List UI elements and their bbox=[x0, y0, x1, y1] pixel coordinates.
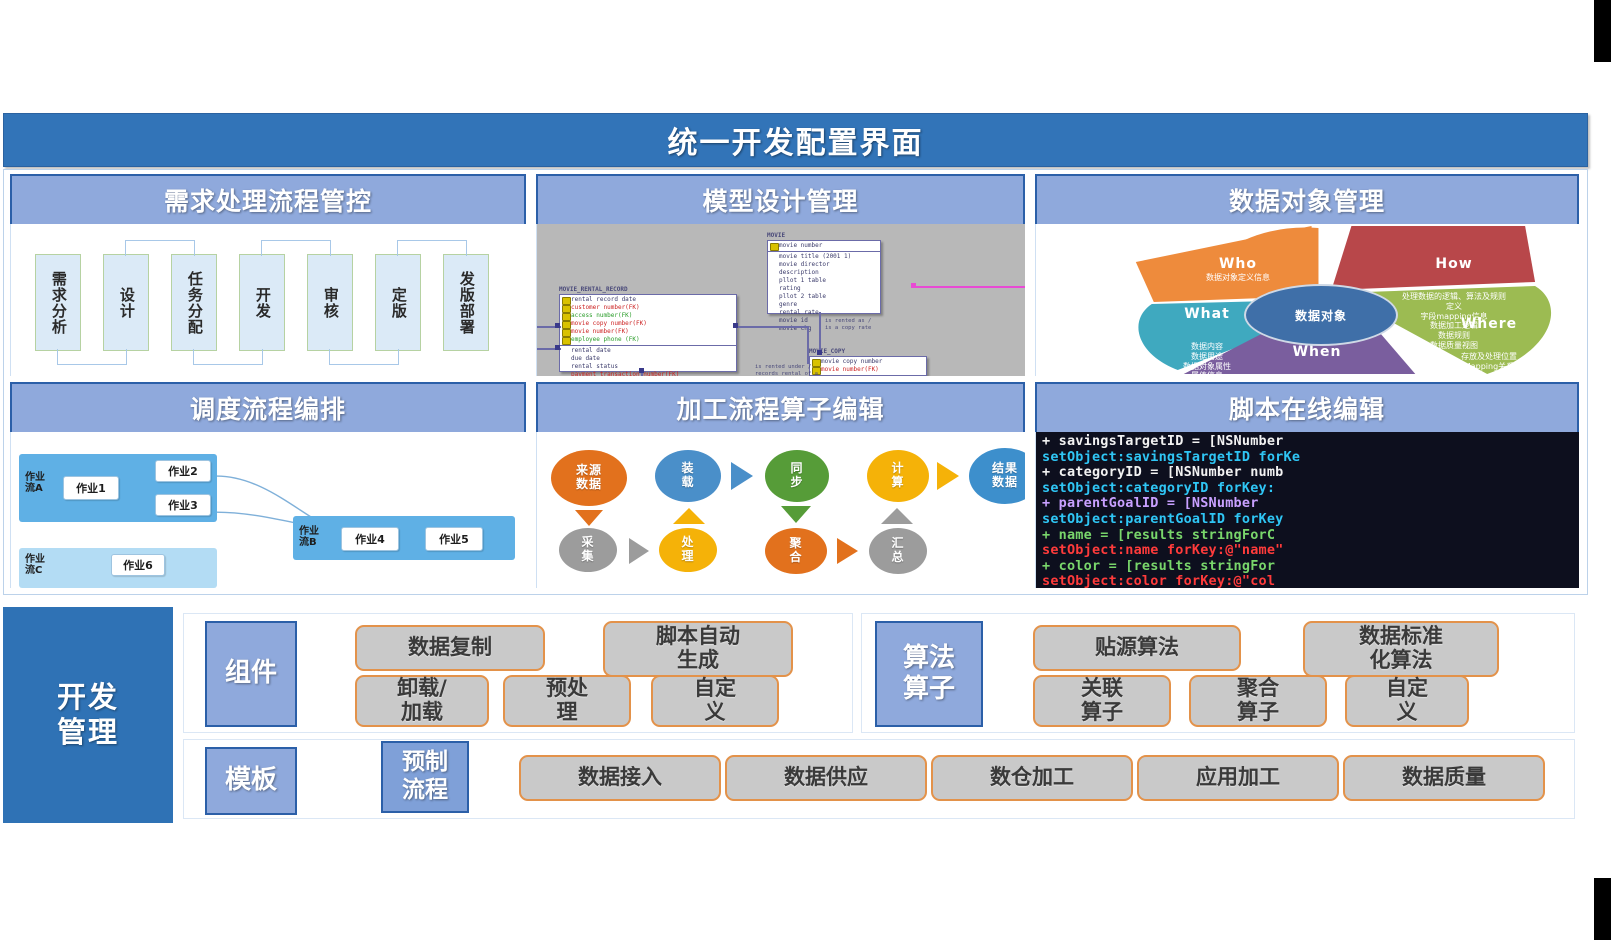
arrow-right-compute bbox=[937, 462, 959, 490]
er-table-title-3: MOVIE_COPY bbox=[809, 348, 845, 355]
er-field: pllot 2 table bbox=[768, 293, 880, 301]
er-field: description bbox=[768, 269, 880, 277]
panel-title-model: 模型设计管理 bbox=[702, 182, 858, 218]
job-6[interactable]: 作业6 bbox=[111, 554, 165, 576]
main-title-bar: 统一开发配置界面 bbox=[3, 113, 1588, 167]
er-field: due date bbox=[560, 355, 736, 363]
panel-header-script: 脚本在线编辑 bbox=[1035, 382, 1579, 434]
er-link-3 bbox=[807, 326, 809, 364]
panel-title-script: 脚本在线编辑 bbox=[1229, 390, 1385, 426]
er-field: movie number bbox=[768, 242, 880, 250]
code-line: setObject:color forKey:@"col bbox=[1042, 574, 1579, 588]
req-step-4[interactable]: 开发 bbox=[239, 254, 285, 351]
arrow-right-aggregate bbox=[837, 538, 858, 564]
panel-model-design[interactable]: 模型设计管理 MOVIE_RENTAL_RECORD rental record… bbox=[532, 172, 1029, 378]
chip-data-quality[interactable]: 数据质量 bbox=[1343, 755, 1545, 801]
er-field: movie copy number(FK) bbox=[560, 320, 736, 328]
chip-data-replication[interactable]: 数据复制 bbox=[355, 625, 545, 671]
panel-header-dataobject: 数据对象管理 bbox=[1035, 174, 1579, 226]
operator-node-sync[interactable]: 同 步 bbox=[765, 450, 829, 502]
pie-label-who-en: Who bbox=[1148, 256, 1328, 273]
category-component[interactable]: 组件 bbox=[205, 621, 297, 727]
er-table-movie[interactable]: movie number movie title (2001 1) movie … bbox=[767, 240, 881, 314]
subcategory-prebuilt-flow[interactable]: 预制 流程 bbox=[381, 741, 469, 813]
arrow-right-load bbox=[731, 462, 753, 490]
code-line: + name = [results stringForC bbox=[1042, 528, 1579, 544]
code-line: + categoryID = [NSNumber numb bbox=[1042, 465, 1579, 481]
er-field: movie title (2001 1) bbox=[768, 253, 880, 261]
er-diagram[interactable]: MOVIE_RENTAL_RECORD rental record date c… bbox=[537, 224, 1025, 376]
chip-warehouse-processing[interactable]: 数仓加工 bbox=[931, 755, 1133, 801]
panel-body-operator: 来源 数据 采 集 处 理 装 载 同 步 聚 合 汇 总 bbox=[536, 432, 1025, 588]
er-field: rating bbox=[768, 285, 880, 293]
panel-body-model: MOVIE_RENTAL_RECORD rental record date c… bbox=[536, 224, 1025, 376]
req-step-1[interactable]: 需求分析 bbox=[35, 254, 81, 351]
schedule-canvas: 作业 流A 作业1 作业2 作业3 作业 流B 作业4 作业5 作业 流C 作业… bbox=[11, 432, 526, 588]
dev-management-sidebar[interactable]: 开发 管理 bbox=[3, 607, 173, 823]
operator-node-load[interactable]: 装 载 bbox=[655, 450, 721, 502]
er-field: rental rate bbox=[768, 309, 880, 317]
operator-node-process[interactable]: 处 理 bbox=[659, 528, 717, 572]
er-field: access number(FK) bbox=[560, 312, 736, 320]
chip-data-ingest[interactable]: 数据接入 bbox=[519, 755, 721, 801]
er-dot-1 bbox=[817, 350, 822, 355]
panel-title-requirement: 需求处理流程管控 bbox=[164, 182, 372, 218]
operator-canvas: 来源 数据 采 集 处 理 装 载 同 步 聚 合 汇 总 bbox=[537, 432, 1025, 588]
code-line: + savingsTargetID = [NSNumber bbox=[1042, 434, 1579, 450]
er-table-movie-copy[interactable]: movie copy number movie number(FK) gener… bbox=[809, 356, 927, 376]
er-dot-3 bbox=[555, 323, 560, 328]
er-relationship-label-1: is rented as / is a copy rate bbox=[825, 318, 871, 332]
pie-label-what-cn: 数据内容 数据用途 数据对象属性 属值信息 bbox=[1132, 342, 1282, 376]
chip-join-operator[interactable]: 关联 算子 bbox=[1033, 675, 1171, 727]
er-field: movie number(FK) bbox=[810, 366, 926, 374]
er-field: genre bbox=[768, 301, 880, 309]
code-line: setObject:parentGoalID forKey bbox=[1042, 512, 1579, 528]
diagram-stage: 统一开发配置界面 需求处理流程管控 需求分析 设计 任务分配 开发 审核 定版 bbox=[0, 113, 1594, 825]
operator-node-source[interactable]: 来源 数据 bbox=[551, 450, 627, 506]
pie-center-label: 数据对象 bbox=[1244, 284, 1398, 346]
requirement-flowchart: 需求分析 设计 任务分配 开发 审核 定版 发版部署 bbox=[11, 224, 526, 376]
flow-group-b-label: 作业 流B bbox=[299, 526, 319, 548]
job-1[interactable]: 作业1 bbox=[63, 476, 119, 500]
chip-script-autogen[interactable]: 脚本自动 生成 bbox=[603, 621, 793, 677]
panel-operator-editor[interactable]: 加工流程算子编辑 来源 数据 采 集 处 理 装 载 同 步 聚 合 bbox=[532, 380, 1029, 590]
pie-label-who-cn: 数据对象定义信息 bbox=[1148, 273, 1328, 283]
chip-custom-component[interactable]: 自定 义 bbox=[651, 675, 779, 727]
chip-data-supply[interactable]: 数据供应 bbox=[725, 755, 927, 801]
category-algorithm[interactable]: 算法 算子 bbox=[875, 621, 983, 727]
panel-data-object[interactable]: 数据对象管理 bbox=[1031, 172, 1583, 378]
req-step-6[interactable]: 定版 bbox=[375, 254, 421, 351]
panel-header-model: 模型设计管理 bbox=[536, 174, 1025, 226]
panel-requirement-flow[interactable]: 需求处理流程管控 需求分析 设计 任务分配 开发 审核 定版 发版部署 bbox=[6, 172, 530, 378]
er-field: rental record date bbox=[560, 296, 736, 304]
code-line: setObject:categoryID forKey: bbox=[1042, 481, 1579, 497]
panel-schedule-flow[interactable]: 调度流程编排 作业 流A 作业1 作业2 作业3 bbox=[6, 380, 530, 590]
code-line: + parentGoalID = [NSNumber bbox=[1042, 496, 1579, 512]
pie-label-who: Who 数据对象定义信息 bbox=[1148, 256, 1328, 283]
er-link-1 bbox=[819, 312, 821, 352]
er-field: customer number(FK) bbox=[560, 304, 736, 312]
er-table-title-1: MOVIE_RENTAL_RECORD bbox=[559, 286, 628, 293]
operator-node-aggregate[interactable]: 聚 合 bbox=[765, 528, 827, 574]
req-step-2[interactable]: 设计 bbox=[103, 254, 149, 351]
pie-label-where-cn: 存放及处理位置 Mapping关系 bbox=[1414, 352, 1564, 372]
chip-standardization-algorithm[interactable]: 数据标准 化算法 bbox=[1303, 621, 1499, 677]
column-left: 需求处理流程管控 需求分析 设计 任务分配 开发 审核 定版 发版部署 bbox=[6, 172, 530, 592]
panel-body-schedule: 作业 流A 作业1 作业2 作业3 作业 流B 作业4 作业5 作业 流C 作业… bbox=[10, 432, 526, 588]
arrow-right-collect bbox=[629, 538, 649, 564]
er-table-title-2: MOVIE bbox=[767, 232, 785, 239]
letterbox-bottom bbox=[1594, 878, 1611, 940]
arrow-up-summary bbox=[881, 508, 913, 524]
er-field: movie copy number bbox=[810, 358, 926, 366]
chip-preprocess[interactable]: 预处 理 bbox=[503, 675, 631, 727]
operator-node-summary[interactable]: 汇 总 bbox=[869, 528, 927, 574]
letterbox-top bbox=[1594, 0, 1611, 62]
chip-application-processing[interactable]: 应用加工 bbox=[1137, 755, 1339, 801]
er-field: movie number(FK) bbox=[560, 328, 736, 336]
er-field: pllot 1 table bbox=[768, 277, 880, 285]
dev-management-section: 开发 管理 组件 数据复制 脚本自动 生成 卸载/ 加载 预处 理 自定 义 算… bbox=[3, 607, 1586, 823]
panel-title-operator: 加工流程算子编辑 bbox=[676, 390, 884, 426]
panel-body-dataobject: Who 数据对象定义信息 How 处理数据的逻辑、算法及规则 定义 字段mapp… bbox=[1035, 224, 1579, 376]
flow-group-c-label: 作业 流C bbox=[25, 554, 45, 576]
flow-group-a-label: 作业 流A bbox=[25, 472, 45, 494]
panel-header-operator: 加工流程算子编辑 bbox=[536, 382, 1025, 434]
req-step-3[interactable]: 任务分配 bbox=[171, 254, 217, 351]
operator-node-result[interactable]: 结果 数据 bbox=[969, 448, 1025, 504]
job-2[interactable]: 作业2 bbox=[155, 460, 211, 482]
req-step-5[interactable]: 审核 bbox=[307, 254, 353, 351]
req-connector-bot-3 bbox=[329, 349, 399, 365]
operator-node-collect[interactable]: 采 集 bbox=[559, 528, 617, 572]
er-link-pink bbox=[915, 286, 1025, 288]
panel-script-editor[interactable]: 脚本在线编辑 + savingsTargetID = [NSNumber set… bbox=[1031, 380, 1583, 590]
upper-grid: 需求处理流程管控 需求分析 设计 任务分配 开发 审核 定版 发版部署 bbox=[3, 169, 1588, 595]
main-title-text: 统一开发配置界面 bbox=[668, 118, 924, 162]
er-field: payment transaction number(FK) bbox=[560, 371, 736, 376]
job-3[interactable]: 作业3 bbox=[155, 494, 211, 516]
panel-header-schedule: 调度流程编排 bbox=[10, 382, 526, 434]
category-template[interactable]: 模板 bbox=[205, 747, 297, 815]
panel-header-requirement: 需求处理流程管控 bbox=[10, 174, 526, 226]
er-dot-pink bbox=[911, 283, 916, 288]
code-line: + color = [results stringFor bbox=[1042, 559, 1579, 575]
pie-label-where: Where 存放及处理位置 Mapping关系 bbox=[1414, 296, 1564, 376]
panel-body-requirement: 需求分析 设计 任务分配 开发 审核 定版 发版部署 bbox=[10, 224, 526, 376]
chip-unload-load[interactable]: 卸载/ 加载 bbox=[355, 675, 489, 727]
code-line: setObject:name forKey:@"name" bbox=[1042, 543, 1579, 559]
data-object-pie-chart[interactable]: Who 数据对象定义信息 How 处理数据的逻辑、算法及规则 定义 字段mapp… bbox=[1036, 224, 1579, 376]
er-relationship-label-2: is rented under / records rental of a bbox=[755, 364, 818, 376]
chip-aggregate-operator[interactable]: 聚合 算子 bbox=[1189, 675, 1327, 727]
chip-source-algorithm[interactable]: 贴源算法 bbox=[1033, 625, 1241, 671]
arrow-up-process bbox=[673, 508, 705, 524]
arrow-down-source bbox=[575, 510, 603, 526]
chip-custom-operator[interactable]: 自定 义 bbox=[1345, 675, 1469, 727]
panel-title-dataobject: 数据对象管理 bbox=[1229, 182, 1385, 218]
pie-label-how-en: How bbox=[1366, 256, 1542, 273]
panel-title-schedule: 调度流程编排 bbox=[190, 390, 346, 426]
er-dot-2 bbox=[733, 323, 738, 328]
panel-body-script: + savingsTargetID = [NSNumber setObject:… bbox=[1035, 432, 1579, 588]
req-connector-bot-2 bbox=[193, 349, 263, 365]
code-line: setObject:savingsTargetID forKe bbox=[1042, 450, 1579, 466]
operator-node-compute[interactable]: 计 算 bbox=[867, 450, 929, 502]
er-link-2 bbox=[735, 326, 809, 328]
req-connector-top-2 bbox=[261, 240, 331, 256]
column-center: 模型设计管理 MOVIE_RENTAL_RECORD rental record… bbox=[532, 172, 1029, 592]
er-field: rental date bbox=[560, 347, 736, 355]
req-connector-bot-1 bbox=[57, 349, 127, 365]
er-dot-5 bbox=[639, 368, 644, 373]
script-code-editor[interactable]: + savingsTargetID = [NSNumber setObject:… bbox=[1036, 432, 1579, 588]
er-table-rental-record[interactable]: rental record date customer number(FK) a… bbox=[559, 294, 737, 372]
er-field: movie director bbox=[768, 261, 880, 269]
er-field: employee phone (FK) bbox=[560, 336, 736, 344]
pie-label-where-en: Where bbox=[1414, 316, 1564, 333]
req-connector-top-3 bbox=[397, 240, 467, 256]
req-step-7[interactable]: 发版部署 bbox=[443, 254, 489, 351]
column-right: 数据对象管理 bbox=[1031, 172, 1583, 592]
arrow-down-sync bbox=[781, 506, 811, 523]
job-5[interactable]: 作业5 bbox=[425, 527, 483, 551]
req-connector-top-1 bbox=[125, 240, 195, 256]
job-4[interactable]: 作业4 bbox=[341, 527, 399, 551]
er-field: rental status bbox=[560, 363, 736, 371]
er-dot-4 bbox=[555, 345, 560, 350]
